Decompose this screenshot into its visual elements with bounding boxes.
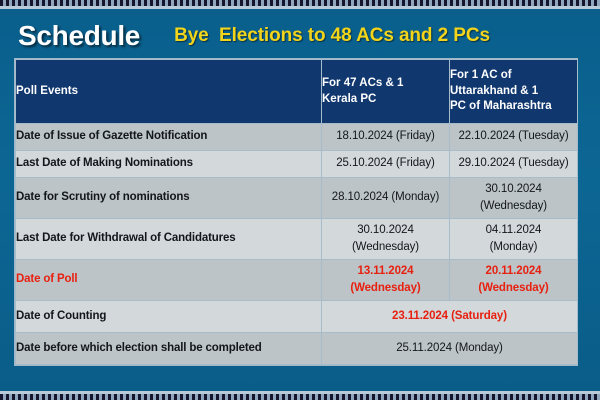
page-title: Schedule: [18, 20, 140, 52]
cell-date-of-poll-other: 20.11.2024 (Wednesday): [450, 260, 578, 301]
cell-withdrawal-kerala: 30.10.2024 (Wednesday): [322, 219, 450, 260]
row-label-last-date-nominations: Last Date of Making Nominations: [16, 151, 322, 178]
schedule-table: Poll Events For 47 ACs & 1 Kerala PC For…: [15, 59, 578, 365]
row-label-withdrawal: Last Date for Withdrawal of Candidatures: [16, 219, 322, 260]
bottom-edge-strip: [0, 394, 600, 400]
table-row: Date of Issue of Gazette Notification 18…: [16, 124, 578, 151]
column-header-poll-events: Poll Events: [16, 60, 322, 124]
cell-date-of-counting-merged: 23.11.2024 (Saturday): [322, 301, 578, 333]
column-header-kerala: For 47 ACs & 1 Kerala PC: [322, 60, 450, 124]
cell-scrutiny-other: 30.10.2024 (Wednesday): [450, 178, 578, 219]
top-edge-strip: [0, 0, 600, 6]
schedule-table-container: Poll Events For 47 ACs & 1 Kerala PC For…: [14, 58, 578, 366]
table-row-date-of-counting: Date of Counting 23.11.2024 (Saturday): [16, 301, 578, 333]
table-body: Date of Issue of Gazette Notification 18…: [16, 124, 578, 365]
table-row: Last Date of Making Nominations 25.10.20…: [16, 151, 578, 178]
cell-last-date-nominations-kerala: 25.10.2024 (Friday): [322, 151, 450, 178]
cell-gazette-notification-kerala: 18.10.2024 (Friday): [322, 124, 450, 151]
row-label-gazette-notification: Date of Issue of Gazette Notification: [16, 124, 322, 151]
table-row-date-of-poll: Date of Poll 13.11.2024 (Wednesday) 20.1…: [16, 260, 578, 301]
cell-gazette-notification-other: 22.10.2024 (Tuesday): [450, 124, 578, 151]
cell-date-of-poll-kerala: 13.11.2024 (Wednesday): [322, 260, 450, 301]
table-header-row: Poll Events For 47 ACs & 1 Kerala PC For…: [16, 60, 578, 124]
table-row: Last Date for Withdrawal of Candidatures…: [16, 219, 578, 260]
table-row: Date before which election shall be comp…: [16, 333, 578, 365]
top-edge-line: [0, 6, 600, 9]
row-label-election-completion: Date before which election shall be comp…: [16, 333, 322, 365]
table-row: Date for Scrutiny of nominations 28.10.2…: [16, 178, 578, 219]
row-label-date-of-counting: Date of Counting: [16, 301, 322, 333]
cell-withdrawal-other: 04.11.2024 (Monday): [450, 219, 578, 260]
row-label-date-of-poll: Date of Poll: [16, 260, 322, 301]
cell-election-completion-merged: 25.11.2024 (Monday): [322, 333, 578, 365]
table-header: Poll Events For 47 ACs & 1 Kerala PC For…: [16, 60, 578, 124]
screenshot-root: Schedule Bye Elections to 48 ACs and 2 P…: [0, 0, 600, 400]
title-band: Schedule Bye Elections to 48 ACs and 2 P…: [0, 14, 600, 58]
page-subtitle: Bye Elections to 48 ACs and 2 PCs: [174, 25, 490, 47]
column-header-uttarakhand-maharashtra: For 1 AC of Uttarakhand & 1 PC of Mahara…: [450, 60, 578, 124]
cell-scrutiny-kerala: 28.10.2024 (Monday): [322, 178, 450, 219]
cell-last-date-nominations-other: 29.10.2024 (Tuesday): [450, 151, 578, 178]
row-label-scrutiny: Date for Scrutiny of nominations: [16, 178, 322, 219]
